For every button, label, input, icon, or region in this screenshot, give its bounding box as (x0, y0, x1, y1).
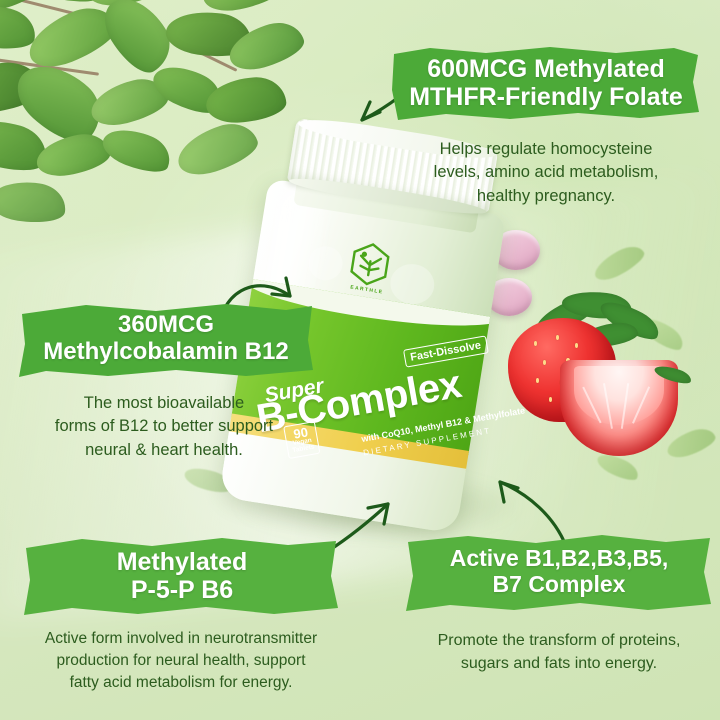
b12-desc-line3: neural & heart health. (85, 441, 243, 459)
callout-folate-line2: MTHFR-Friendly Folate (409, 83, 683, 111)
callout-title-b12: 360MCG Methylcobalamin B12 (16, 300, 316, 378)
callout-active-line1: Active B1,B2,B3,B5, (450, 545, 669, 571)
brand-hexagon-leaf-icon (344, 238, 397, 291)
callout-b12-line2: Methylcobalamin B12 (43, 338, 288, 365)
callout-title-b6: Methylated P-5-P B6 (22, 536, 342, 616)
b12-desc-line1: The most bioavailable (84, 394, 245, 412)
b6-desc-line3: fatty acid metabolism for energy. (70, 674, 293, 691)
callout-b6-line1: Methylated (117, 548, 248, 576)
infographic-canvas: EARTHLE B Fast-Dissolve Super B-Complex … (0, 0, 720, 720)
callout-desc-folate: Helps regulate homocysteine levels, amin… (386, 138, 706, 208)
active-desc-line2: sugars and fats into energy. (461, 655, 657, 672)
folate-desc-line1: Helps regulate homocysteine (440, 140, 653, 158)
folate-desc-line2: levels, amino acid metabolism, (434, 163, 659, 181)
b12-desc-line2: forms of B12 to better support (55, 417, 273, 435)
callout-b12-line1: 360MCG (118, 311, 214, 338)
b6-desc-line2: production for neural health, support (56, 652, 305, 669)
callout-desc-b6: Active form involved in neurotransmitter… (6, 628, 356, 694)
callout-active-line2: B7 Complex (493, 571, 626, 597)
callout-title-folate: 600MCG Methylated MTHFR-Friendly Folate (390, 44, 702, 122)
folate-desc-line3: healthy pregnancy. (477, 187, 615, 205)
callout-desc-b12: The most bioavailable forms of B12 to be… (14, 392, 314, 462)
callout-folate-line1: 600MCG Methylated (427, 55, 665, 83)
callout-desc-active-complex: Promote the transform of proteins, sugar… (402, 630, 716, 675)
callout-b6-line2: P-5-P B6 (131, 576, 233, 604)
callout-title-active-complex: Active B1,B2,B3,B5, B7 Complex (404, 532, 714, 612)
b6-desc-line1: Active form involved in neurotransmitter (45, 630, 317, 647)
active-desc-line1: Promote the transform of proteins, (438, 632, 681, 649)
